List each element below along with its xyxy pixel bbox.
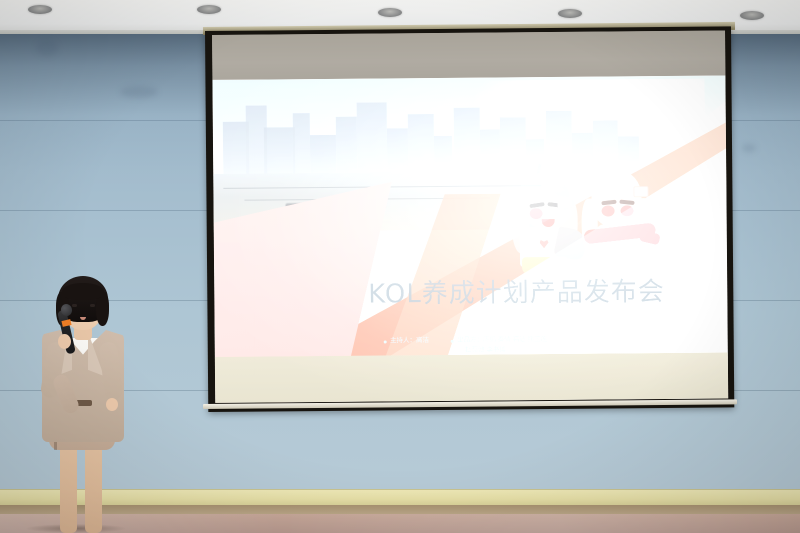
screen-surface: KOL养成计划产品发布会 主持人：高洁 出品方：廖鹏 秦倩 高洁 熊玉莲 — [212, 30, 728, 402]
presenter — [22, 276, 140, 533]
screen-unlit-area — [212, 30, 725, 81]
wall-smudge — [36, 40, 58, 56]
presenter-hand-left — [58, 334, 71, 349]
slide-title: KOL养成计划产品发布会 — [368, 271, 717, 311]
slide-characters — [503, 134, 699, 278]
presenter-hand-right — [106, 398, 118, 411]
stage-scene: KOL养成计划产品发布会 主持人：高洁 出品方：廖鹏 秦倩 高洁 熊玉莲 — [0, 0, 800, 533]
downlight-icon — [558, 9, 582, 18]
wall-smudge — [120, 86, 158, 98]
wall-smudge — [742, 144, 756, 152]
downlight-icon — [378, 8, 402, 17]
bullet-dot-icon — [384, 341, 387, 344]
list-item: 主持人：高洁 — [384, 336, 429, 346]
chibi-character-white — [585, 170, 660, 277]
downlight-icon — [740, 11, 764, 20]
projector-screen[interactable]: KOL养成计划产品发布会 主持人：高洁 出品方：廖鹏 秦倩 高洁 熊玉莲 — [205, 26, 734, 412]
downlight-icon — [28, 5, 52, 14]
slide-bullet-host: 主持人：高洁 — [390, 336, 429, 346]
slide-footer-band — [215, 352, 728, 402]
presenter-legs — [58, 436, 108, 533]
chibi-character-blue — [511, 173, 586, 278]
bullet-dot-icon — [451, 340, 454, 343]
downlight-icon — [197, 5, 221, 14]
projected-slide: KOL养成计划产品发布会 主持人：高洁 出品方：廖鹏 秦倩 高洁 熊玉莲 — [212, 75, 728, 402]
